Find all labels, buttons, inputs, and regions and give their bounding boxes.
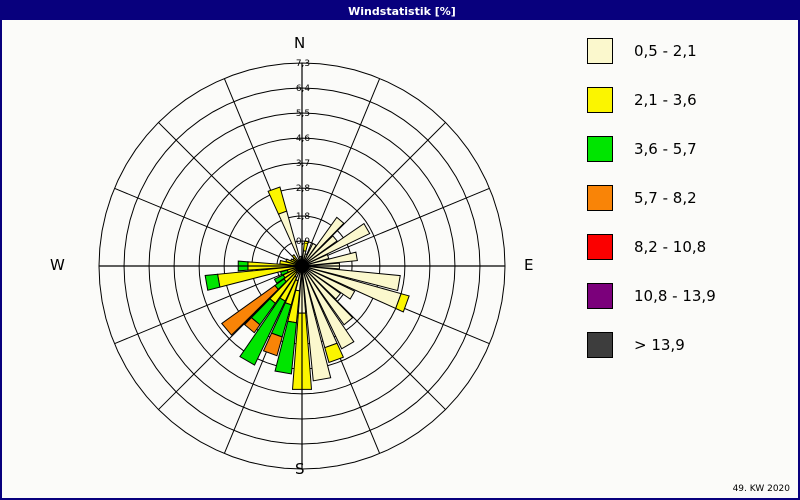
legend-item-label: > 13,9 <box>634 336 685 354</box>
legend-color-swatch <box>587 185 613 211</box>
legend-item[interactable]: 8,2 - 10,8 <box>587 222 787 271</box>
compass-label-north: N <box>294 34 305 52</box>
compass-label-west: W <box>50 256 65 274</box>
radial-tick-label: 0,9 <box>296 237 311 247</box>
legend-color-swatch <box>587 283 613 309</box>
radial-tick-label: 7,3 <box>296 59 310 69</box>
legend-item[interactable]: 5,7 - 8,2 <box>587 173 787 222</box>
radial-tick-label: 2,8 <box>296 184 311 194</box>
legend-item-label: 2,1 - 3,6 <box>634 91 697 109</box>
radial-tick-label: 3,7 <box>296 159 310 169</box>
wind-rose-window: Windstatistik [%] 0,91,82,83,74,65,56,47… <box>0 0 800 500</box>
legend-item[interactable]: 3,6 - 5,7 <box>587 124 787 173</box>
footnote-week-label: 49. KW 2020 <box>733 484 790 494</box>
window-title-bar: Windstatistik [%] <box>2 2 800 20</box>
legend-color-swatch <box>587 38 613 64</box>
radial-tick-label: 5,5 <box>296 109 310 119</box>
legend-item[interactable]: 0,5 - 2,1 <box>587 26 787 75</box>
legend-item[interactable]: 10,8 - 13,9 <box>587 271 787 320</box>
legend-color-swatch <box>587 87 613 113</box>
radial-tick-labels: 0,91,82,83,74,65,56,47,3 <box>296 59 311 247</box>
legend-item[interactable]: 2,1 - 3,6 <box>587 75 787 124</box>
legend-color-swatch <box>587 332 613 358</box>
radial-tick-label: 4,6 <box>296 134 311 144</box>
legend-color-swatch <box>587 136 613 162</box>
radial-tick-label: 1,8 <box>296 212 311 222</box>
legend-item-label: 8,2 - 10,8 <box>634 238 706 256</box>
compass-label-east: E <box>524 256 533 274</box>
radial-tick-label: 6,4 <box>296 84 311 94</box>
legend-color-swatch <box>587 234 613 260</box>
window-title: Windstatistik [%] <box>348 5 456 18</box>
legend: 0,5 - 2,12,1 - 3,63,6 - 5,75,7 - 8,28,2 … <box>587 26 787 369</box>
legend-item-label: 3,6 - 5,7 <box>634 140 697 158</box>
legend-item-label: 0,5 - 2,1 <box>634 42 697 60</box>
legend-item-label: 10,8 - 13,9 <box>634 287 716 305</box>
compass-label-south: S <box>295 460 305 478</box>
legend-item-label: 5,7 - 8,2 <box>634 189 697 207</box>
legend-item[interactable]: > 13,9 <box>587 320 787 369</box>
